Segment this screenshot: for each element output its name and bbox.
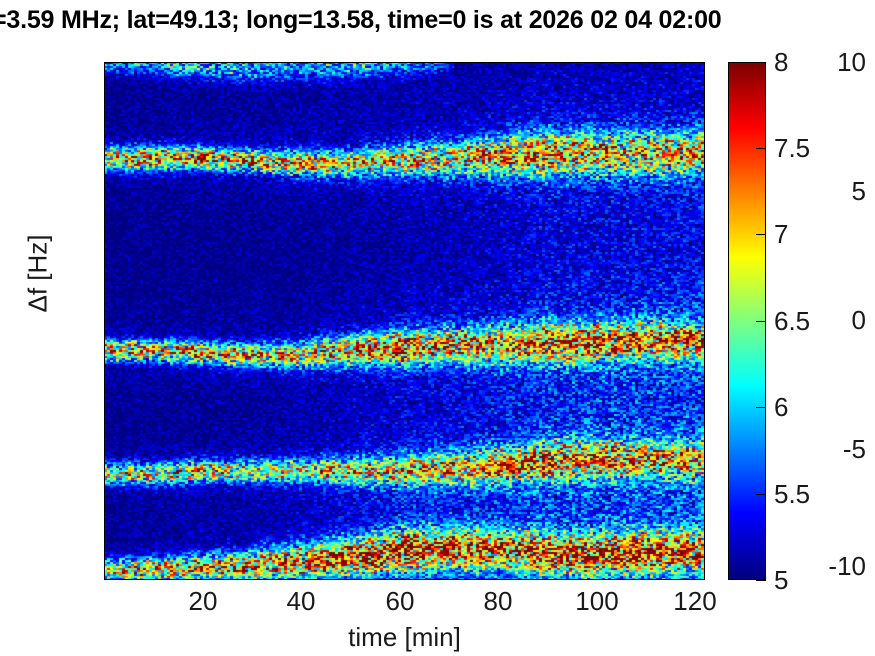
colorbar-label-7p5: 7.5 (774, 148, 864, 174)
xtick-label-40: 40 (246, 588, 356, 614)
xtick-label-60: 60 (345, 588, 455, 614)
x-axis-label: time [min] (104, 622, 705, 653)
colorbar-tickmark-7 (756, 234, 766, 235)
y-axis-label: Δf [Hz] (23, 164, 54, 384)
xtick-label-100: 100 (542, 588, 652, 614)
colorbar-label-8: 8 (774, 62, 864, 88)
colorbar-tickmark-6 (756, 407, 766, 408)
ytick-label-m5: -5 (783, 449, 875, 475)
colorbar-label-7: 7 (774, 234, 864, 260)
ytick-label-5: 5 (783, 191, 875, 217)
xtick-label-20: 20 (148, 588, 258, 614)
xtick-label-120: 120 (640, 588, 750, 614)
xtick-label-80: 80 (443, 588, 553, 614)
colorbar-label-6p5: 6.5 (774, 321, 864, 347)
colorbar-tickmark-6p5 (756, 321, 766, 322)
spectrogram-image (104, 62, 705, 580)
colorbar-tickmark-8 (756, 62, 766, 63)
spectrogram-axes[interactable] (104, 62, 705, 580)
figure-root: =3.59 MHz; lat=49.13; long=13.58, time=0… (0, 0, 875, 656)
colorbar-tickmark-5p5 (756, 494, 766, 495)
colorbar-label-5p5: 5.5 (774, 494, 864, 520)
colorbar-label-5: 5 (774, 580, 864, 606)
colorbar-tickmark-5 (756, 580, 766, 581)
colorbar-label-6: 6 (774, 407, 864, 433)
page-title: =3.59 MHz; lat=49.13; long=13.58, time=0… (0, 6, 875, 35)
colorbar-tickmark-7p5 (756, 148, 766, 149)
